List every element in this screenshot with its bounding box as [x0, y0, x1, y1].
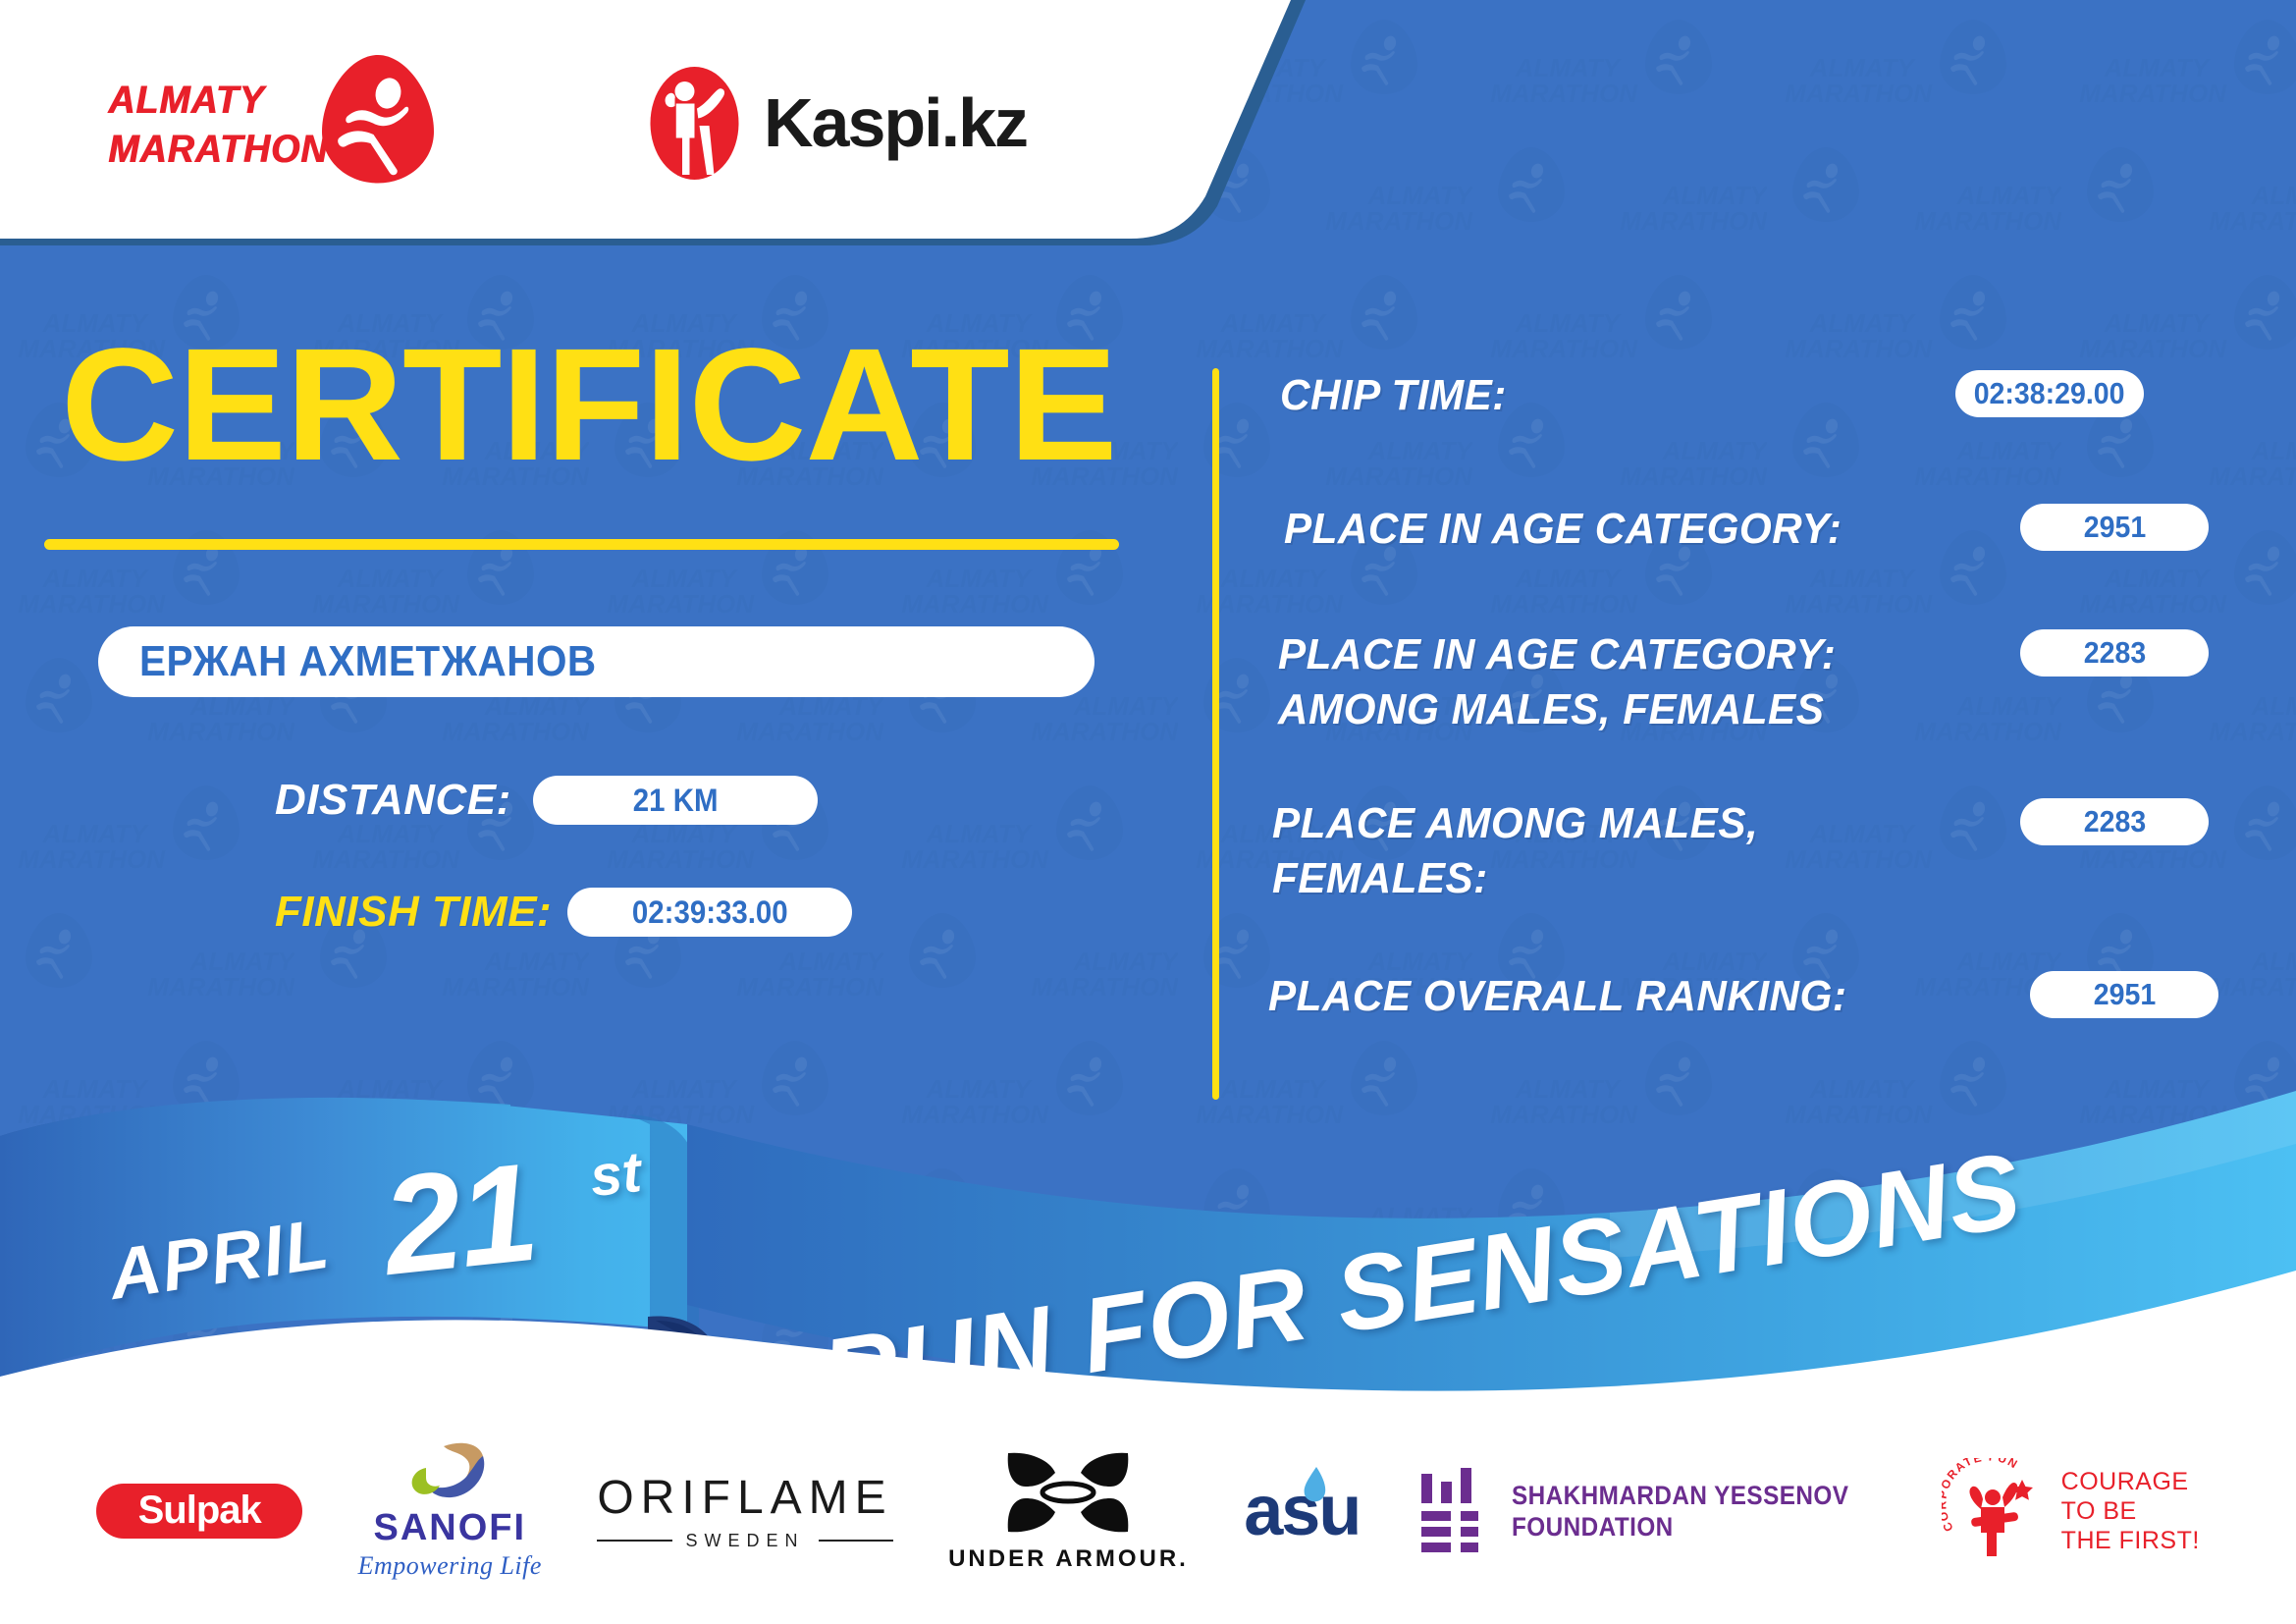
oriflame-label: ORIFLAME — [597, 1471, 892, 1525]
sulpak-logo: Sulpak — [96, 1484, 302, 1539]
place-age-category-value-pill: 2951 — [2020, 504, 2209, 551]
finish-time-value: 02:39:33.00 — [632, 894, 788, 931]
place-overall-row: PLACE OVERALL RANKING: 2951 — [1266, 969, 2248, 1028]
yessenov-mark-icon — [1415, 1468, 1492, 1554]
right-column: CHIP TIME: 02:38:29.00 PLACE IN AGE CATE… — [1266, 368, 2248, 1028]
header-logos: ALMATYMARATHON Kaspi.kz — [108, 54, 1027, 191]
distance-value: 21 KM — [632, 783, 718, 819]
under-armour-label: UNDER ARMOUR. — [948, 1545, 1189, 1573]
oriflame-sub-wrap: SWEDEN — [597, 1531, 892, 1551]
oriflame-rule-right — [819, 1540, 893, 1542]
place-overall-value-pill: 2951 — [2030, 971, 2218, 1018]
under-armour-icon — [998, 1449, 1138, 1540]
chip-time-value-pill: 02:38:29.00 — [1955, 370, 2144, 417]
place-age-category-gender-value-pill: 2283 — [2020, 629, 2209, 677]
asu-droplet-icon — [1299, 1465, 1332, 1504]
place-age-category-row: PLACE IN AGE CATEGORY: 2951 — [1266, 502, 2248, 561]
sponsor-sanofi: SANOFI Empowering Life — [358, 1440, 542, 1581]
sanofi-tagline: Empowering Life — [358, 1551, 542, 1581]
place-among-gender-row: PLACE AMONG MALES, FEMALES: 2283 — [1266, 796, 2248, 906]
sanofi-label: SANOFI — [373, 1507, 526, 1549]
athlete-name-field: ЕРЖАН АХМЕТЖАНОВ — [98, 626, 1095, 697]
courage-fund-label: COURAGE TO BE THE FIRST! — [2061, 1467, 2200, 1555]
sponsor-under-armour: UNDER ARMOUR. — [948, 1449, 1189, 1573]
place-age-category-gender-value: 2283 — [2083, 635, 2145, 671]
place-age-category-gender-row: PLACE IN AGE CATEGORY: AMONG MALES, FEMA… — [1266, 627, 2248, 737]
almaty-marathon-logo: ALMATYMARATHON — [108, 54, 432, 191]
chip-time-label: CHIP TIME: — [1280, 368, 1507, 423]
sulpak-label: Sulpak — [138, 1489, 261, 1533]
almaty-marathon-wordmark: ALMATYMARATHON — [108, 76, 328, 174]
page-title: CERTIFICATE — [61, 324, 1201, 484]
place-overall-value: 2951 — [2093, 977, 2155, 1012]
sponsor-yessenov: SHAKHMARDAN YESSENOV FOUNDATION — [1415, 1468, 1887, 1554]
finish-time-row: FINISH TIME: 02:39:33.00 — [275, 884, 1178, 941]
sponsor-oriflame: ORIFLAME SWEDEN — [597, 1471, 892, 1551]
sponsor-bar: Sulpak SANOFI Empowering Life ORIFLAME S… — [0, 1440, 2296, 1581]
place-age-category-label: PLACE IN AGE CATEGORY: — [1284, 502, 1842, 557]
finish-time-label: FINISH TIME: — [275, 888, 552, 937]
place-among-gender-label: PLACE AMONG MALES, FEMALES: — [1272, 796, 1758, 906]
distance-row: DISTANCE: 21 KM — [275, 772, 1178, 829]
athlete-name-value: ЕРЖАН АХМЕТЖАНОВ — [139, 637, 597, 686]
courage-fund-icon: CORPORATE FUND — [1942, 1458, 2048, 1564]
left-column: CERTIFICATE ЕРЖАН АХМЕТЖАНОВ DISTANCE: 2… — [0, 324, 1178, 941]
ribbon-day-suffix: st — [587, 1139, 644, 1210]
place-age-category-gender-label: PLACE IN AGE CATEGORY: AMONG MALES, FEMA… — [1278, 627, 1836, 737]
kaspi-wordmark: Kaspi.kz — [764, 83, 1027, 162]
title-divider-rule — [44, 539, 1119, 550]
sponsor-sulpak: Sulpak — [96, 1484, 302, 1539]
oriflame-rule-left — [597, 1540, 671, 1542]
distance-label: DISTANCE: — [275, 776, 511, 825]
sanofi-mark-icon — [404, 1440, 495, 1505]
kaspi-figure-icon — [643, 62, 746, 185]
certificate-page: ALMATYMARATHON Kaspi.kz CERTIFICATE ЕРЖА… — [0, 0, 2296, 1624]
place-overall-label: PLACE OVERALL RANKING: — [1268, 969, 1846, 1024]
oriflame-sub: SWEDEN — [686, 1531, 805, 1551]
sponsor-courage-fund: CORPORATE FUND COURAGE TO BE THE FIRST! — [1942, 1458, 2200, 1564]
yessenov-label: SHAKHMARDAN YESSENOV FOUNDATION — [1512, 1480, 1848, 1543]
chip-time-row: CHIP TIME: 02:38:29.00 — [1266, 368, 2248, 427]
place-age-category-value: 2951 — [2083, 510, 2145, 545]
sponsor-asu: asu — [1244, 1471, 1360, 1551]
chip-time-value: 02:38:29.00 — [1974, 376, 2125, 411]
distance-value-pill: 21 KM — [533, 776, 818, 825]
finish-time-value-pill: 02:39:33.00 — [567, 888, 852, 937]
kaspi-logo: Kaspi.kz — [643, 62, 1027, 185]
place-among-gender-value-pill: 2283 — [2020, 798, 2209, 845]
place-among-gender-value: 2283 — [2083, 804, 2145, 839]
column-divider — [1212, 368, 1219, 1100]
